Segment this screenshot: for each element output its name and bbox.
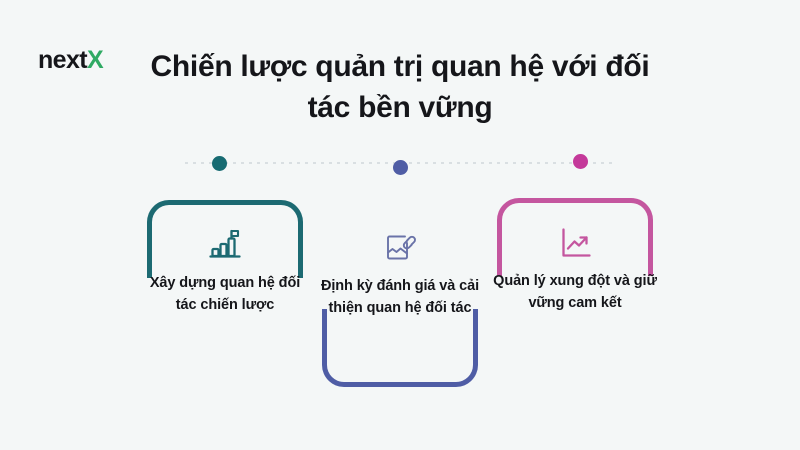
frame-link-icon: [322, 228, 478, 268]
steps-card-row: Xây dựng quan hệ đối tác chiến lược Định…: [0, 0, 800, 450]
step-card-2-label: Định kỳ đánh giá và cải thiện quan hệ đố…: [316, 275, 484, 319]
step-card-3-label: Quản lý xung đột và giữ vững cam kết: [491, 270, 659, 314]
step-card-2[interactable]: Định kỳ đánh giá và cải thiện quan hệ đố…: [322, 212, 478, 387]
step-card-3[interactable]: Quản lý xung đột và giữ vững cam kết: [497, 198, 653, 373]
step-card-2-frame: [322, 309, 478, 387]
step-card-1[interactable]: Xây dựng quan hệ đối tác chiến lược: [147, 200, 303, 375]
bar-chart-flag-icon: [147, 224, 303, 264]
step-card-1-label: Xây dựng quan hệ đối tác chiến lược: [141, 272, 309, 316]
trend-up-chart-icon: [497, 223, 653, 263]
